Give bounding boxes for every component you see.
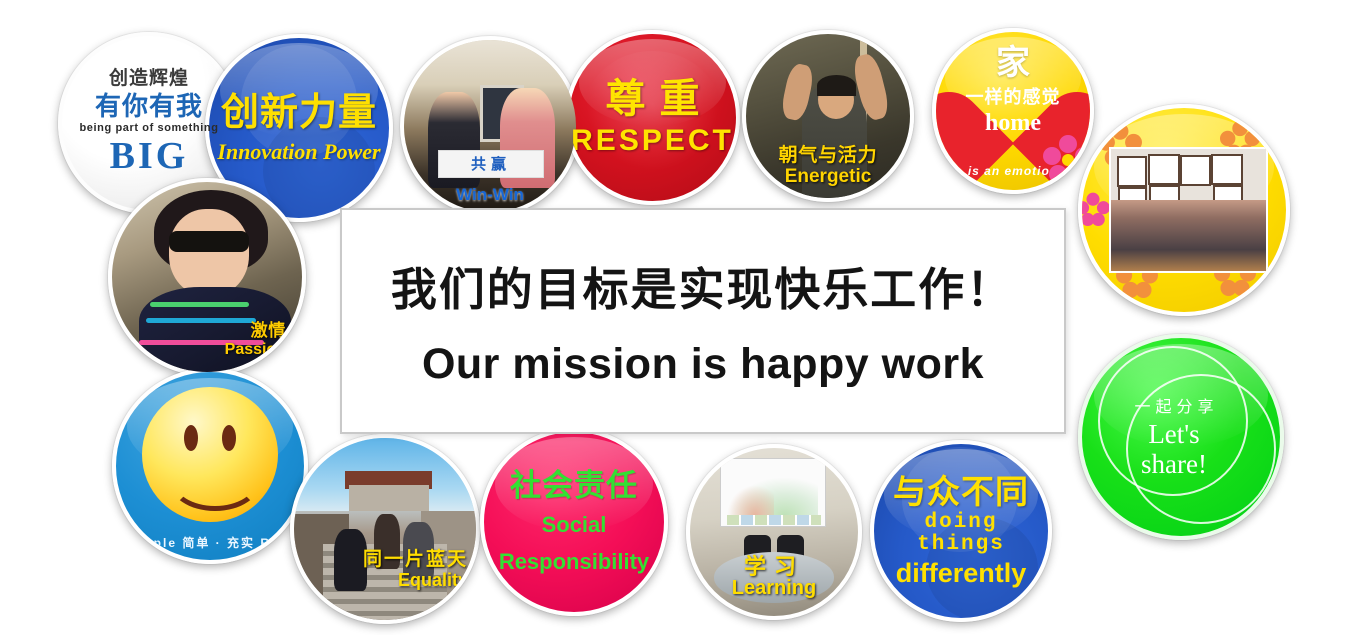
- great-wall-photo: [294, 438, 476, 620]
- badge-text: 家 一样的感觉 home: [936, 46, 1090, 137]
- smile-arc-text: Simple 简单 · 充实 Rich: [116, 534, 304, 551]
- badge-passion[interactable]: 激情 Passion: [108, 178, 306, 376]
- respect-chinese: 尊重: [571, 78, 734, 121]
- big-line4: BIG: [79, 136, 218, 177]
- home-chinese-big: 家: [936, 46, 1090, 80]
- badge-simple-rich-smiley[interactable]: Simple 简单 · 充实 Rich: [112, 368, 308, 564]
- learning-english: Learning: [690, 578, 858, 600]
- social-chinese: 社会责任: [499, 469, 649, 502]
- badge-learning[interactable]: 学习 Learning: [686, 444, 862, 620]
- smiley-face-icon: [142, 387, 277, 522]
- mission-statement-banner: 我们的目标是实现快乐工作！ Our mission is happy work: [340, 208, 1066, 434]
- badge-respect[interactable]: 尊重 RESPECT: [565, 30, 740, 205]
- badge-text: 学习 Learning: [690, 555, 858, 600]
- mission-chinese: 我们的目标是实现快乐工作！: [391, 253, 1014, 318]
- mission-english: Our mission is happy work: [422, 340, 984, 389]
- home-chinese-sub: 一样的感觉: [936, 83, 1090, 109]
- badge-doing-things-differently[interactable]: 与众不同 doing things differently: [870, 440, 1052, 622]
- badge-home-is-an-emotion[interactable]: 家 一样的感觉 home is an emotion: [932, 28, 1094, 194]
- passion-chinese: 激情: [225, 322, 286, 340]
- badge-text: 同一片蓝天 Equality: [363, 550, 468, 590]
- badge-equality[interactable]: 同一片蓝天 Equality: [290, 434, 480, 624]
- passion-english: Passion: [225, 341, 286, 358]
- badge-lets-share[interactable]: 一起分享 Let's share!: [1078, 334, 1284, 540]
- big-line2: 有你有我: [79, 92, 218, 120]
- energetic-chinese: 朝气与活力: [746, 146, 910, 167]
- big-line3: being part of something: [79, 123, 218, 135]
- winwin-plate: 共赢: [438, 150, 543, 178]
- different-english-2: differently: [874, 559, 1048, 588]
- badge-energetic[interactable]: 朝气与活力 Energetic: [742, 30, 914, 202]
- learning-chinese: 学习: [690, 555, 858, 579]
- home-english: home: [936, 110, 1090, 137]
- innovation-chinese: 创新力量: [217, 93, 380, 134]
- badge-text: 与众不同 doing things differently: [874, 474, 1048, 588]
- share-chinese: 一起分享: [1129, 399, 1218, 416]
- culture-badge-banner: 创造辉煌 有你有我 being part of something BIG 创新…: [0, 0, 1366, 635]
- badge-text: 尊重 RESPECT: [571, 78, 734, 158]
- innovation-english: Innovation Power: [217, 140, 380, 164]
- flower-icon: [1078, 192, 1110, 226]
- different-english-1: doing things: [874, 512, 1048, 557]
- badge-team-celebration-photo[interactable]: [1078, 104, 1290, 316]
- badge-social-responsibility[interactable]: 社会责任 Social Responsibility: [480, 428, 668, 616]
- social-english-2: Responsibility: [499, 549, 649, 575]
- badge-text: 朝气与活力 Energetic: [746, 146, 910, 188]
- group-photo: [1109, 147, 1268, 273]
- badge-text: 社会责任 Social Responsibility: [499, 469, 649, 575]
- winwin-chinese: 共赢: [471, 153, 511, 174]
- winwin-english: Win-Win: [404, 185, 576, 205]
- energetic-english: Energetic: [746, 167, 910, 188]
- big-line1: 创造辉煌: [79, 69, 218, 90]
- badge-text: 激情 Passion: [225, 322, 286, 358]
- flower-icon: [1042, 134, 1094, 186]
- share-english-1: Let's: [1129, 420, 1218, 449]
- badge-text: 创造辉煌 有你有我 being part of something BIG: [79, 69, 218, 177]
- badge-win-win[interactable]: 共赢 Win-Win: [400, 36, 580, 216]
- badge-text: 创新力量 Innovation Power: [217, 93, 380, 164]
- equality-english: Equality: [363, 571, 468, 590]
- badge-text: 一起分享 Let's share!: [1129, 399, 1218, 479]
- share-english-2: share!: [1129, 450, 1218, 479]
- different-chinese: 与众不同: [874, 474, 1048, 510]
- equality-chinese: 同一片蓝天: [363, 550, 468, 571]
- respect-english: RESPECT: [571, 125, 734, 157]
- social-english-1: Social: [499, 512, 649, 538]
